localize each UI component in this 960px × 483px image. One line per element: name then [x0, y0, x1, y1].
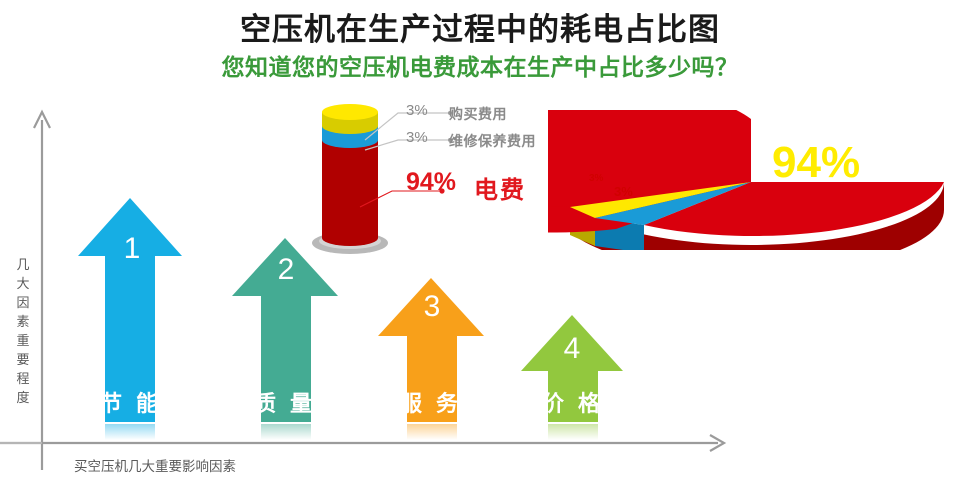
callout-maintenance-pct: 3% [406, 129, 428, 146]
pie-label-purchase: 3% [589, 173, 603, 184]
arrow-label-3: 服 务 [380, 386, 482, 418]
arrow-rank-1: 1 [112, 232, 152, 266]
infographic-canvas: 空压机在生产过程中的耗电占比图 您知道您的空压机电费成本在生产中占比多少吗？ 几… [0, 0, 960, 483]
callout-purchase-pct: 3% [406, 102, 428, 119]
arrow-bar-2-reflection [261, 424, 311, 440]
arrow-bar-3-reflection [407, 424, 457, 440]
arrow-label-1: 节 能 [80, 386, 182, 418]
arrow-rank-3: 3 [412, 290, 452, 324]
arrow-bar-1-reflection [105, 424, 155, 440]
arrow-rank-4: 4 [552, 332, 592, 366]
callout-electricity-pct: 94% [406, 168, 456, 197]
pie-label-maintenance: 3% [614, 184, 633, 199]
arrow-label-2: 质 量 [234, 386, 336, 418]
callout-purchase-label: 购买费用 [449, 104, 507, 124]
pie-label-electricity: 94% [772, 138, 860, 188]
arrow-bar-4-reflection [548, 424, 598, 440]
callout-maintenance-label: 维修保养费用 [449, 131, 536, 151]
arrow-label-4: 价 格 [523, 386, 623, 418]
callout-electricity-label: 电费 [474, 170, 526, 205]
pie-chart-3d[interactable] [548, 110, 953, 250]
